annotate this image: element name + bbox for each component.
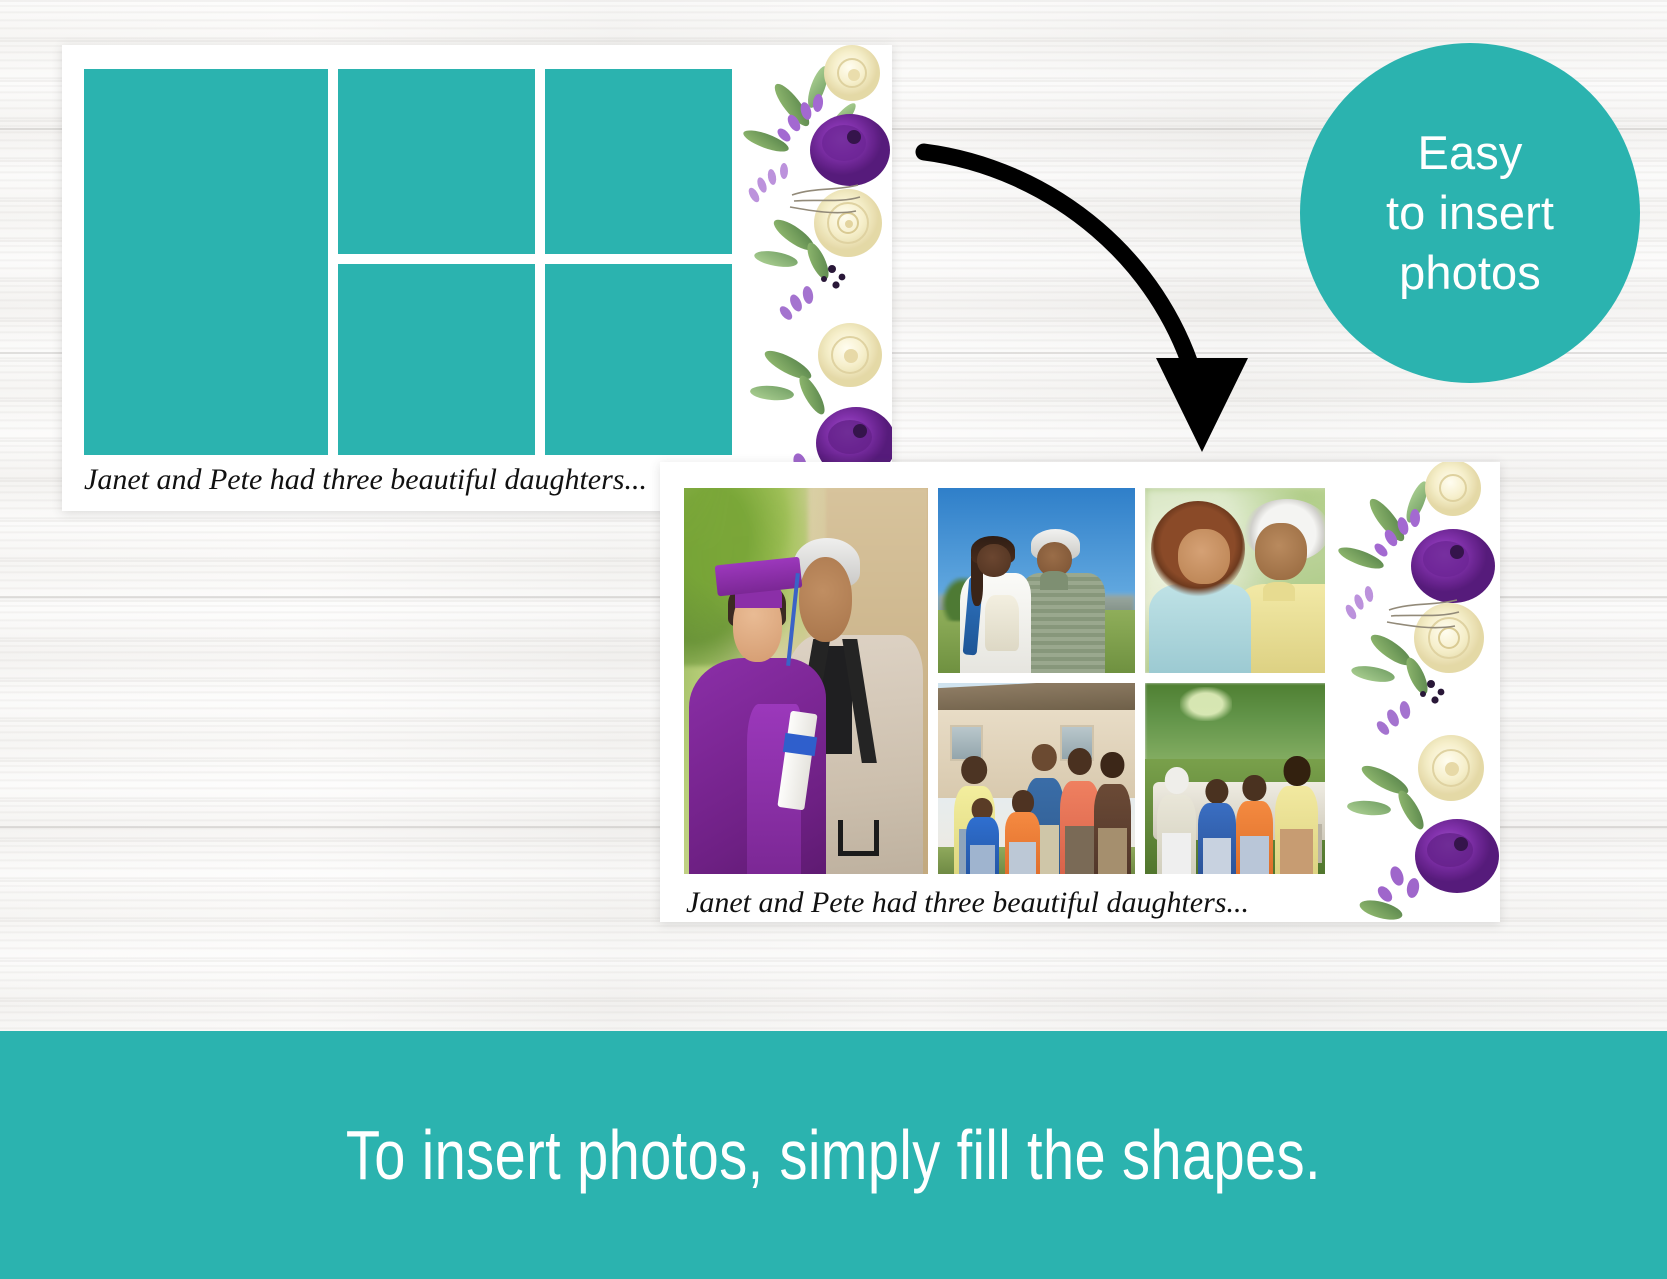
photo-2-outdoors-pair[interactable] bbox=[938, 488, 1135, 673]
photo-placeholder-grid bbox=[74, 57, 729, 447]
template-caption: Janet and Pete had three beautiful daugh… bbox=[84, 463, 647, 497]
badge-text: Easyto insertphotos bbox=[1386, 123, 1554, 303]
photo-placeholder-3[interactable] bbox=[545, 69, 742, 254]
easy-to-insert-photos-badge[interactable]: Easyto insertphotos bbox=[1300, 43, 1640, 383]
photo-placeholder-1[interactable] bbox=[84, 69, 328, 455]
floral-border-art bbox=[732, 45, 892, 511]
instruction-banner-text: To insert photos, simply fill the shapes… bbox=[346, 1115, 1321, 1195]
photo-placeholder-2[interactable] bbox=[338, 69, 535, 254]
photo-5-family-bench[interactable] bbox=[1145, 683, 1342, 874]
filled-template-card[interactable]: Janet and Pete had three beautiful daugh… bbox=[660, 462, 1500, 922]
photo-grid bbox=[674, 476, 1334, 866]
photo-card-caption: Janet and Pete had three beautiful daugh… bbox=[686, 886, 1249, 920]
blank-template-card[interactable]: Janet and Pete had three beautiful daugh… bbox=[62, 45, 892, 511]
photo-1-graduation[interactable] bbox=[684, 488, 928, 874]
photo-placeholder-5[interactable] bbox=[545, 264, 742, 455]
instruction-banner: To insert photos, simply fill the shapes… bbox=[0, 1031, 1667, 1279]
promo-graphic: Janet and Pete had three beautiful daugh… bbox=[0, 0, 1667, 1279]
floral-border-svg bbox=[732, 45, 892, 511]
photo-4-family-house[interactable] bbox=[938, 683, 1135, 874]
floral-border-art bbox=[1325, 462, 1500, 922]
photo-placeholder-4[interactable] bbox=[338, 264, 535, 455]
photo-3-hugging-pair[interactable] bbox=[1145, 488, 1342, 673]
floral-border-svg bbox=[1325, 462, 1500, 922]
